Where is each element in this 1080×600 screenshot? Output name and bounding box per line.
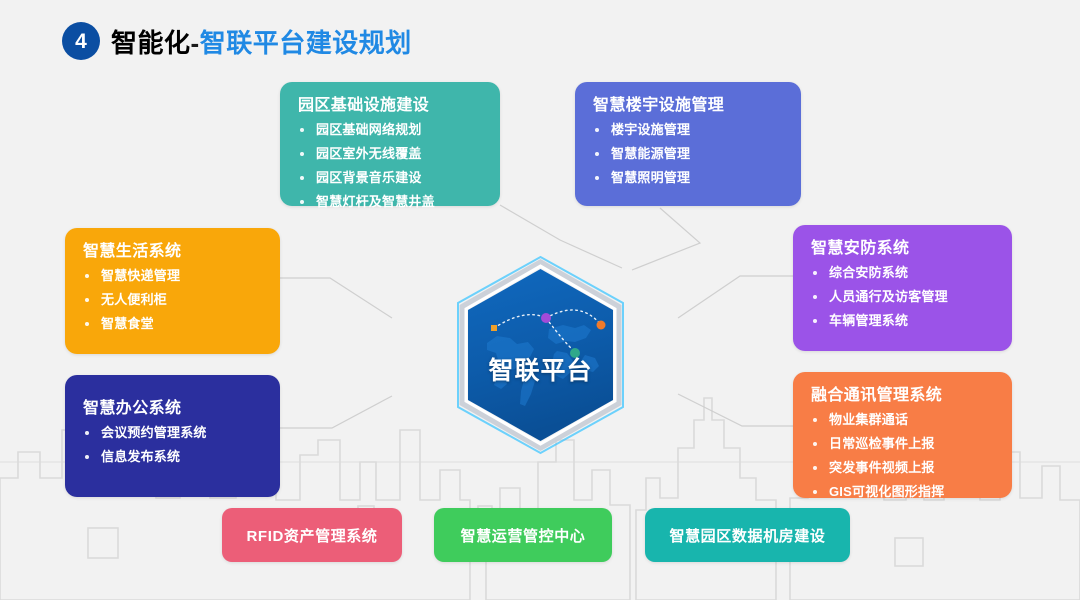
list-item[interactable]: GIS可视化图形指挥 <box>811 485 994 498</box>
card-security[interactable]: 智慧安防系统 综合安防系统 人员通行及访客管理 车辆管理系统 <box>793 225 1012 351</box>
page-title-sub: 智联平台建设规划 <box>200 23 412 60</box>
list-item-label: 园区室外无线覆盖 <box>316 146 422 161</box>
list-item-label: 综合安防系统 <box>829 265 908 280</box>
slide-canvas: 4 智能化-智联平台建设规划 <box>0 0 1080 600</box>
bullet-icon <box>85 298 89 302</box>
list-item[interactable]: 人员通行及访客管理 <box>811 290 994 303</box>
pill-datacenter-construction[interactable]: 智慧园区数据机房建设 <box>645 508 850 562</box>
card-park-infra[interactable]: 园区基础设施建设 园区基础网络规划 园区室外无线覆盖 园区背景音乐建设 智慧灯杆… <box>280 82 500 206</box>
list-item[interactable]: 会议预约管理系统 <box>83 426 262 439</box>
list-item-label: 楼宇设施管理 <box>611 122 690 137</box>
list-item[interactable]: 园区室外无线覆盖 <box>298 147 482 160</box>
list-item[interactable]: 智慧食堂 <box>83 317 262 330</box>
list-item[interactable]: 智慧灯杆及智慧井盖 <box>298 195 482 208</box>
central-hub-hexagon[interactable]: 智联平台 <box>453 255 628 455</box>
card-title: 融合通讯管理系统 <box>811 386 994 406</box>
pill-rfid-asset-management[interactable]: RFID资产管理系统 <box>222 508 402 562</box>
list-item-label: 智慧能源管理 <box>611 146 690 161</box>
card-item-list: 综合安防系统 人员通行及访客管理 车辆管理系统 <box>811 266 994 327</box>
card-title: 智慧安防系统 <box>811 239 994 259</box>
card-building-mgmt[interactable]: 智慧楼宇设施管理 楼宇设施管理 智慧能源管理 智慧照明管理 <box>575 82 801 206</box>
bullet-icon <box>595 176 599 180</box>
list-item-label: 无人便利柜 <box>101 292 167 307</box>
list-item[interactable]: 日常巡检事件上报 <box>811 437 994 450</box>
card-title: 智慧办公系统 <box>83 399 262 419</box>
pill-operations-center[interactable]: 智慧运营管控中心 <box>434 508 612 562</box>
list-item[interactable]: 车辆管理系统 <box>811 314 994 327</box>
network-node-purple-center <box>541 313 551 323</box>
list-item[interactable]: 园区基础网络规划 <box>298 123 482 136</box>
list-item[interactable]: 无人便利柜 <box>83 293 262 306</box>
bullet-icon <box>595 128 599 132</box>
list-item-label: GIS可视化图形指挥 <box>829 484 944 499</box>
card-item-list: 会议预约管理系统 信息发布系统 <box>83 426 262 463</box>
list-item-label: 信息发布系统 <box>101 449 180 464</box>
bullet-icon <box>85 322 89 326</box>
list-item-label: 园区背景音乐建设 <box>316 170 422 185</box>
bullet-icon <box>813 418 817 422</box>
card-office[interactable]: 智慧办公系统 会议预约管理系统 信息发布系统 <box>65 375 280 497</box>
bullet-icon <box>85 431 89 435</box>
page-title: 智能化-智联平台建设规划 <box>111 23 412 60</box>
list-item[interactable]: 综合安防系统 <box>811 266 994 279</box>
list-item-label: 智慧灯杆及智慧井盖 <box>316 194 435 209</box>
card-title: 智慧生活系统 <box>83 242 262 262</box>
list-item-label: 智慧食堂 <box>101 316 154 331</box>
connector-to-comm <box>678 394 793 426</box>
list-item-label: 智慧照明管理 <box>611 170 690 185</box>
card-smart-life[interactable]: 智慧生活系统 智慧快递管理 无人便利柜 智慧食堂 <box>65 228 280 354</box>
bullet-icon <box>85 274 89 278</box>
list-item-label: 人员通行及访客管理 <box>829 289 948 304</box>
card-title: 园区基础设施建设 <box>298 96 482 116</box>
list-item-label: 智慧快递管理 <box>101 268 180 283</box>
connector-to-smart-life <box>280 278 392 318</box>
list-item[interactable]: 物业集群通话 <box>811 413 994 426</box>
bullet-icon <box>813 319 817 323</box>
list-item[interactable]: 突发事件视频上报 <box>811 461 994 474</box>
bullet-icon <box>85 455 89 459</box>
bullet-icon <box>813 466 817 470</box>
bullet-icon <box>300 200 304 204</box>
bullet-icon <box>813 490 817 494</box>
list-item-label: 日常巡检事件上报 <box>829 436 935 451</box>
list-item-label: 车辆管理系统 <box>829 313 908 328</box>
list-item-label: 物业集群通话 <box>829 412 908 427</box>
list-item-label: 突发事件视频上报 <box>829 460 935 475</box>
page-title-main: 智能化 <box>111 23 191 60</box>
bullet-icon <box>595 152 599 156</box>
list-item[interactable]: 智慧能源管理 <box>593 147 783 160</box>
list-item-label: 会议预约管理系统 <box>101 425 207 440</box>
network-node-orange-left <box>491 325 497 331</box>
list-item[interactable]: 楼宇设施管理 <box>593 123 783 136</box>
bullet-icon <box>300 152 304 156</box>
list-item[interactable]: 智慧快递管理 <box>83 269 262 282</box>
list-item[interactable]: 园区背景音乐建设 <box>298 171 482 184</box>
connector-to-security <box>678 276 793 318</box>
page-title-dash: - <box>191 28 200 59</box>
connector-to-office <box>280 396 392 428</box>
bullet-icon <box>813 271 817 275</box>
list-item-label: 园区基础网络规划 <box>316 122 422 137</box>
bullet-icon <box>813 442 817 446</box>
list-item[interactable]: 智慧照明管理 <box>593 171 783 184</box>
card-item-list: 楼宇设施管理 智慧能源管理 智慧照明管理 <box>593 123 783 184</box>
network-node-orange-right <box>597 321 606 330</box>
list-item[interactable]: 信息发布系统 <box>83 450 262 463</box>
network-node-teal-lower <box>570 348 580 358</box>
card-item-list: 物业集群通话 日常巡检事件上报 突发事件视频上报 GIS可视化图形指挥 <box>811 413 994 498</box>
card-title: 智慧楼宇设施管理 <box>593 96 783 116</box>
connector-to-building-mgmt <box>632 208 700 270</box>
section-number-badge: 4 <box>62 22 100 60</box>
card-item-list: 园区基础网络规划 园区室外无线覆盖 园区背景音乐建设 智慧灯杆及智慧井盖 <box>298 123 482 208</box>
card-item-list: 智慧快递管理 无人便利柜 智慧食堂 <box>83 269 262 330</box>
bullet-icon <box>300 176 304 180</box>
bullet-icon <box>813 295 817 299</box>
bullet-icon <box>300 128 304 132</box>
slide-header: 4 智能化-智联平台建设规划 <box>62 22 412 60</box>
card-communications[interactable]: 融合通讯管理系统 物业集群通话 日常巡检事件上报 突发事件视频上报 GIS可视化… <box>793 372 1012 498</box>
